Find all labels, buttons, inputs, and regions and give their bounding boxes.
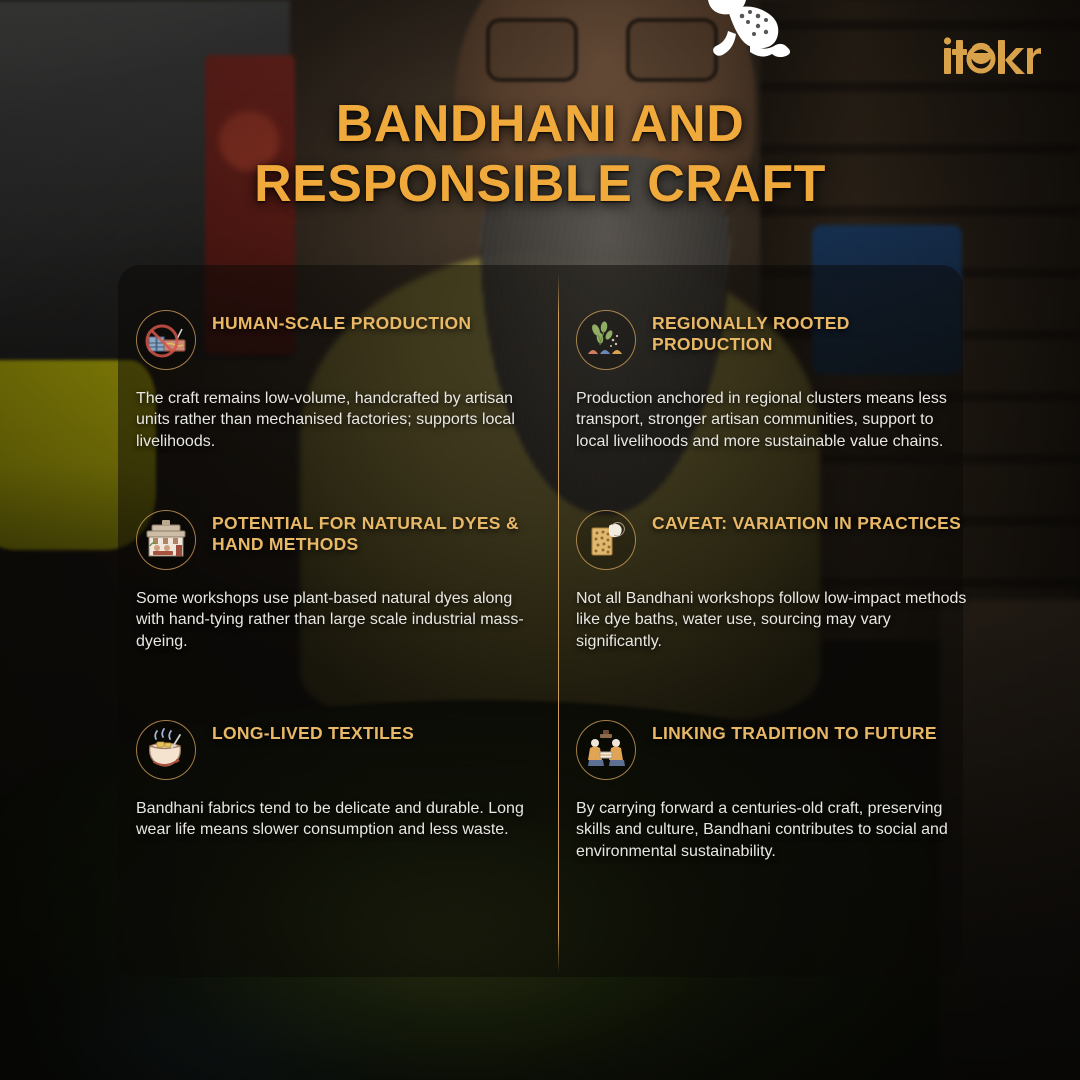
block-body: Production anchored in regional clusters… <box>576 388 968 452</box>
block-long-lived-textiles: LONG-LIVED TEXTILES Bandhani fabrics ten… <box>136 720 536 841</box>
infographic-poster: BANDHANI AND RESPONSIBLE CRAFT <box>0 0 1080 1080</box>
block-body: By carrying forward a centuries-old craf… <box>576 798 968 862</box>
block-heading: HUMAN-SCALE PRODUCTION <box>212 313 471 334</box>
block-heading: CAVEAT: VARIATION IN PRACTICES <box>652 513 961 534</box>
column-divider <box>558 273 559 973</box>
block-caveat-variation-in-practices: CAVEAT: VARIATION IN PRACTICES Not all B… <box>576 510 976 652</box>
block-natural-dyes-hand-methods: POTENTIAL FOR NATURAL DYES & HAND METHOD… <box>136 510 536 652</box>
content-panel: HUMAN-SCALE PRODUCTION The craft remains… <box>118 265 963 977</box>
block-heading: LONG-LIVED TEXTILES <box>212 723 414 744</box>
hand-holding-fabric-icon <box>576 510 636 570</box>
itokri-logo[interactable] <box>942 36 1042 78</box>
title-line-1: BANDHANI AND <box>0 95 1080 155</box>
block-regionally-rooted-production: REGIONALLY ROOTED PRODUCTION Production … <box>576 310 976 452</box>
block-human-scale-production: HUMAN-SCALE PRODUCTION The craft remains… <box>136 310 536 452</box>
two-artisans-icon <box>576 720 636 780</box>
block-body: Some workshops use plant-based natural d… <box>136 588 528 652</box>
title-line-2: RESPONSIBLE CRAFT <box>0 155 1080 215</box>
block-heading: LINKING TRADITION TO FUTURE <box>652 723 937 744</box>
block-body: Bandhani fabrics tend to be delicate and… <box>136 798 528 841</box>
poster-title: BANDHANI AND RESPONSIBLE CRAFT <box>0 95 1080 215</box>
steaming-dye-pot-icon <box>136 720 196 780</box>
seedlings-icon <box>576 310 636 370</box>
workshop-building-icon <box>136 510 196 570</box>
block-body: Not all Bandhani workshops follow low-im… <box>576 588 968 652</box>
no-factory-icon <box>136 310 196 370</box>
block-heading: POTENTIAL FOR NATURAL DYES & HAND METHOD… <box>212 513 522 556</box>
block-linking-tradition-to-future: LINKING TRADITION TO FUTURE By carrying … <box>576 720 976 862</box>
block-heading: REGIONALLY ROOTED PRODUCTION <box>652 313 962 356</box>
block-body: The craft remains low-volume, handcrafte… <box>136 388 528 452</box>
